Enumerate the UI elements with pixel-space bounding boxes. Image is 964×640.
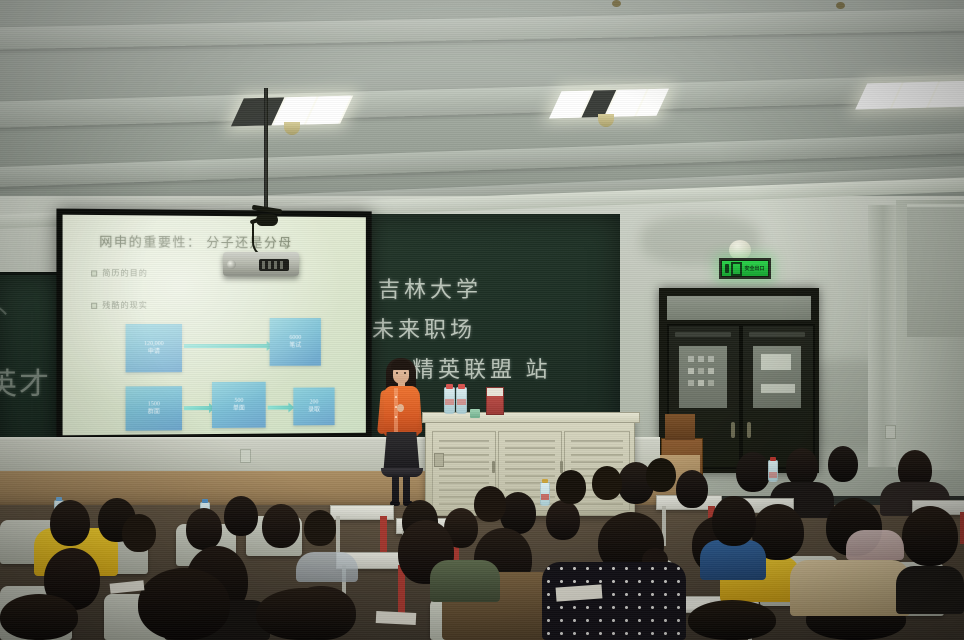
projector-lens-icon — [227, 260, 236, 269]
bottle-cap — [56, 497, 62, 501]
lecture-hall-photo: 英才 丶 吉林大学 未来职场 精英联盟 站 网申的重要性： 分子还是分母 简历的… — [0, 0, 964, 640]
door-push-bar[interactable] — [675, 332, 731, 337]
audience-head-foreground — [688, 600, 776, 640]
smoke-detector — [612, 0, 621, 7]
desk-panel — [380, 516, 387, 556]
slide-bullet-2: 残酷的现实 — [91, 300, 148, 311]
presenter-skirt-hem — [381, 468, 423, 477]
water-bottle — [444, 387, 455, 414]
stage-socket — [240, 449, 251, 463]
bullet-square-icon — [91, 303, 97, 309]
bottle-label — [769, 472, 777, 478]
audience-head — [556, 470, 586, 504]
audience-head — [736, 452, 770, 492]
door-notice — [688, 368, 694, 374]
audience-head — [186, 508, 222, 550]
presenter-hand — [397, 404, 404, 412]
door-handle[interactable] — [731, 422, 735, 438]
bottle-cap — [202, 499, 208, 503]
audience-head — [902, 506, 958, 566]
exit-sign-label: 安全出口 — [744, 265, 764, 272]
door-glass-panel — [753, 346, 801, 408]
cardigan-button — [395, 396, 397, 398]
bottle-cap — [446, 384, 453, 389]
red-box-top — [487, 388, 503, 396]
audience-jacket — [430, 560, 500, 602]
cabinet-top — [422, 412, 640, 423]
audience-head — [646, 458, 676, 492]
audience-shoulders — [896, 566, 964, 614]
red-box — [486, 387, 504, 415]
door-notice — [688, 356, 694, 362]
water-bottle — [456, 387, 467, 414]
presenter-leg — [392, 475, 399, 503]
chalk-line-3: 精英联盟 站 — [412, 352, 552, 384]
bottle-cap — [770, 457, 776, 461]
audience-head — [676, 470, 708, 508]
ceiling-speaker-dome — [598, 114, 614, 127]
audience-head — [786, 448, 818, 486]
flow-arrow-1 — [184, 344, 268, 348]
presenter-fringe — [391, 360, 411, 370]
door-notice — [698, 380, 704, 386]
presenter-eye — [396, 372, 398, 374]
wooden-chair-back — [665, 414, 695, 440]
flow-node-4: 500单面 — [212, 382, 266, 428]
audience-top — [846, 530, 904, 560]
ceiling-speaker-dome — [284, 122, 300, 135]
desk-bottle — [540, 482, 550, 506]
bottle-label — [457, 399, 466, 405]
bottle-label — [445, 399, 454, 405]
door-push-bar[interactable] — [749, 332, 805, 337]
audience-head-foreground — [256, 588, 352, 640]
bottle-cap — [458, 384, 465, 389]
audience-head — [828, 446, 858, 482]
audience-head — [304, 510, 336, 546]
emergency-exit-sign: 安全出口 — [719, 258, 771, 279]
door-notice — [708, 380, 714, 386]
projection-screen: 网申的重要性： 分子还是分母 简历的目的 残酷的现实 120,000申请 600… — [63, 215, 366, 436]
audience-head — [546, 500, 580, 540]
ceiling-beam — [0, 74, 964, 128]
running-man-icon — [725, 264, 729, 273]
audience-head — [224, 496, 258, 536]
flow-arrow-3 — [268, 406, 290, 410]
door-notice — [708, 368, 714, 374]
bottle-label — [541, 494, 549, 500]
slide-bullet-1: 简历的目的 — [91, 267, 148, 278]
projector-mount-pole — [264, 88, 268, 210]
exit-sign-face: 安全出口 — [722, 261, 768, 276]
cardigan-button — [395, 416, 397, 418]
presenter — [378, 356, 426, 504]
green-cup — [470, 409, 480, 418]
door-notice — [698, 356, 704, 362]
flow-arrow-2 — [184, 406, 210, 410]
cabinet-lock[interactable] — [434, 453, 444, 467]
audience-head-foreground — [0, 594, 78, 640]
audience-head — [262, 504, 300, 548]
door-handle[interactable] — [747, 422, 751, 438]
door-notice — [761, 354, 791, 370]
chalk-stroke-left: 丶 — [0, 295, 15, 327]
audience-head — [592, 466, 622, 500]
presenter-eye — [404, 372, 406, 374]
ceiling — [0, 0, 964, 205]
wall-lamp — [729, 240, 751, 260]
audience-head-foreground — [138, 568, 230, 640]
projection-screen-frame: 网申的重要性： 分子还是分母 简历的目的 残酷的现实 120,000申请 600… — [56, 209, 371, 444]
ceiling-beam — [0, 8, 964, 49]
audience-blue-jacket — [700, 540, 766, 580]
desk-panel — [960, 512, 964, 544]
audience-top — [296, 552, 358, 582]
door-notice — [761, 384, 795, 393]
cabinet-knob[interactable] — [492, 461, 495, 473]
door-notice — [688, 380, 694, 386]
door-glass-panel — [679, 346, 727, 408]
wall-socket — [885, 425, 896, 439]
presenter-leg — [403, 475, 410, 503]
bullet-square-icon — [91, 271, 97, 277]
audience-head — [474, 486, 506, 522]
wall-hanging-screen — [907, 204, 964, 337]
ceiling-light-fixture — [855, 81, 964, 110]
chalk-line-2: 未来职场 — [372, 312, 476, 344]
audience-head — [50, 500, 90, 546]
flow-node-5: 200录取 — [293, 387, 334, 425]
audience-knit-sweater — [790, 560, 910, 616]
chalk-text-left: 英才 — [0, 359, 51, 403]
desk-bottle — [768, 460, 778, 482]
paper-sheet — [376, 611, 417, 625]
audience-head — [122, 514, 156, 552]
audience-head — [712, 496, 756, 546]
flow-node-1: 120,000申请 — [126, 324, 182, 372]
exit-door-icon — [731, 262, 742, 276]
flow-node-2: 6000笔试 — [270, 318, 321, 366]
bottle-cap — [542, 479, 548, 483]
cabinet-knob[interactable] — [560, 461, 563, 473]
door-notice — [698, 368, 704, 374]
flow-node-3: 1500群面 — [126, 386, 182, 431]
chalk-line-1: 吉林大学 — [378, 272, 482, 304]
projector-vent — [259, 259, 289, 271]
smoke-detector — [836, 2, 845, 9]
door-notice — [708, 356, 714, 362]
door-transom-window — [667, 296, 811, 320]
ceiling-projector — [223, 252, 299, 276]
